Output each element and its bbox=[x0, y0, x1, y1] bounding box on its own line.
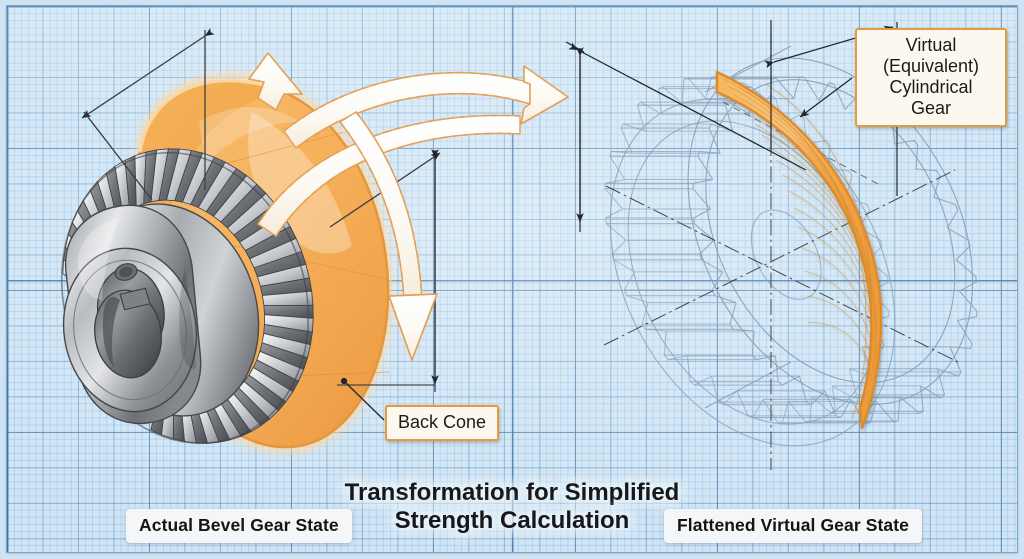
figure-title: Transformation for Simplified Strength C… bbox=[332, 479, 692, 535]
state-tag-actual-bevel-gear: Actual Bevel Gear State bbox=[126, 509, 352, 543]
callout-back-cone: Back Cone bbox=[385, 405, 499, 441]
wireframe-bore bbox=[737, 198, 835, 311]
dim-hook-1 bbox=[566, 42, 584, 52]
callout-virtual-cylindrical-gear: Virtual (Equivalent) Cylindrical Gear bbox=[855, 28, 1007, 127]
virtual-callout-leader bbox=[800, 78, 852, 117]
figure-canvas: Back Cone Virtual (Equivalent) Cylindric… bbox=[0, 0, 1024, 559]
state-tag-flattened-virtual-gear: Flattened Virtual Gear State bbox=[664, 509, 922, 543]
